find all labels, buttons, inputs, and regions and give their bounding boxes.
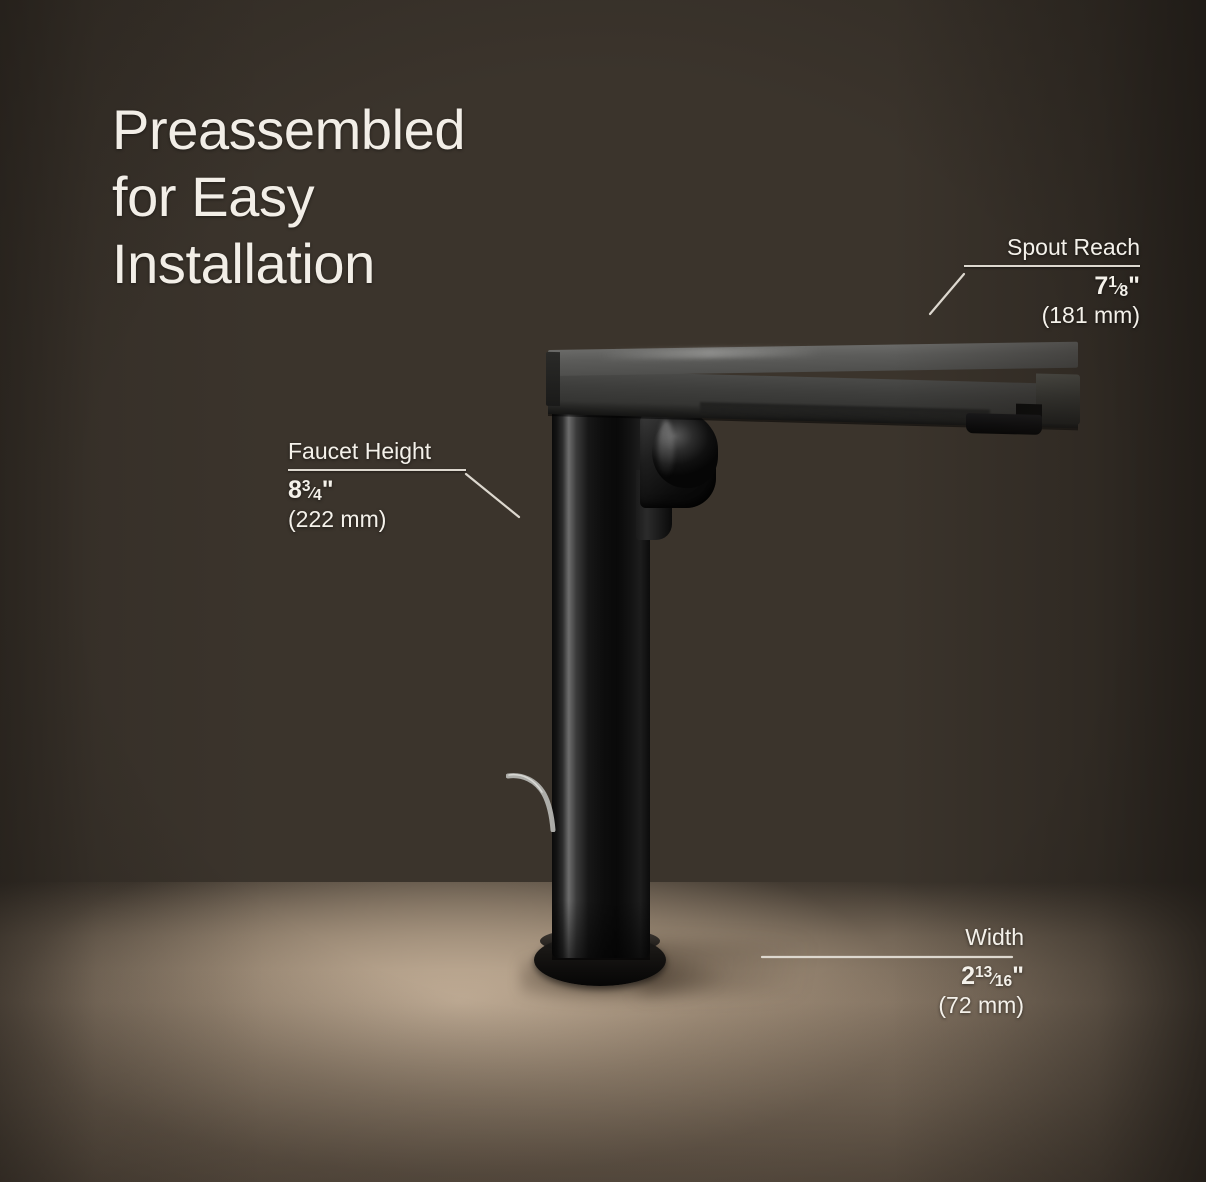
fraction-numerator: 1 [1108,274,1117,291]
handle-highlight [658,420,674,478]
fraction-denominator: 8 [1120,283,1129,300]
fraction-denominator: 16 [995,973,1012,990]
value-whole: 2 [961,962,975,990]
value-unit: " [1012,962,1024,990]
drain-lift-rod [506,768,560,832]
page-title: Preassembled for Easy Installation [112,96,632,298]
callout-faucet-height-metric: (222 mm) [288,505,478,533]
value-fraction: 3⁄4 [302,485,322,502]
cast-shadow [640,942,870,994]
value-unit: " [322,476,334,504]
spout-left-end [546,352,560,406]
value-fraction: 1⁄8 [1108,281,1128,298]
callout-spout-reach-value: 71⁄8" [940,271,1140,301]
product-dimension-diagram: Preassembled for Easy Installation Spout… [0,0,1206,1182]
value-unit: " [1128,272,1140,300]
callout-width-label: Width [892,924,1024,951]
callout-faucet-height-rule [288,469,466,471]
fraction-numerator: 3 [302,478,311,495]
spout-aerator [966,413,1042,435]
fraction-denominator: 4 [313,487,322,504]
callout-faucet-height: Faucet Height 83⁄4" (222 mm) [288,438,478,533]
callout-width: Width 213⁄16" (72 mm) [892,924,1024,1019]
value-whole: 8 [288,476,302,504]
callout-faucet-height-value: 83⁄4" [288,475,478,505]
callout-spout-reach-rule [964,265,1140,267]
fraction-numerator: 13 [975,964,992,981]
callout-spout-reach-metric: (181 mm) [940,301,1140,329]
column-base-shading [552,900,650,960]
callout-spout-reach: Spout Reach 71⁄8" (181 mm) [940,234,1140,329]
callout-width-value: 213⁄16" [892,961,1024,991]
value-whole: 7 [1094,272,1108,300]
callout-width-metric: (72 mm) [892,991,1024,1019]
value-fraction: 13⁄16 [975,971,1012,988]
spout-right-end [1036,373,1080,424]
callout-faucet-height-label: Faucet Height [288,438,478,465]
callout-spout-reach-label: Spout Reach [940,234,1140,261]
